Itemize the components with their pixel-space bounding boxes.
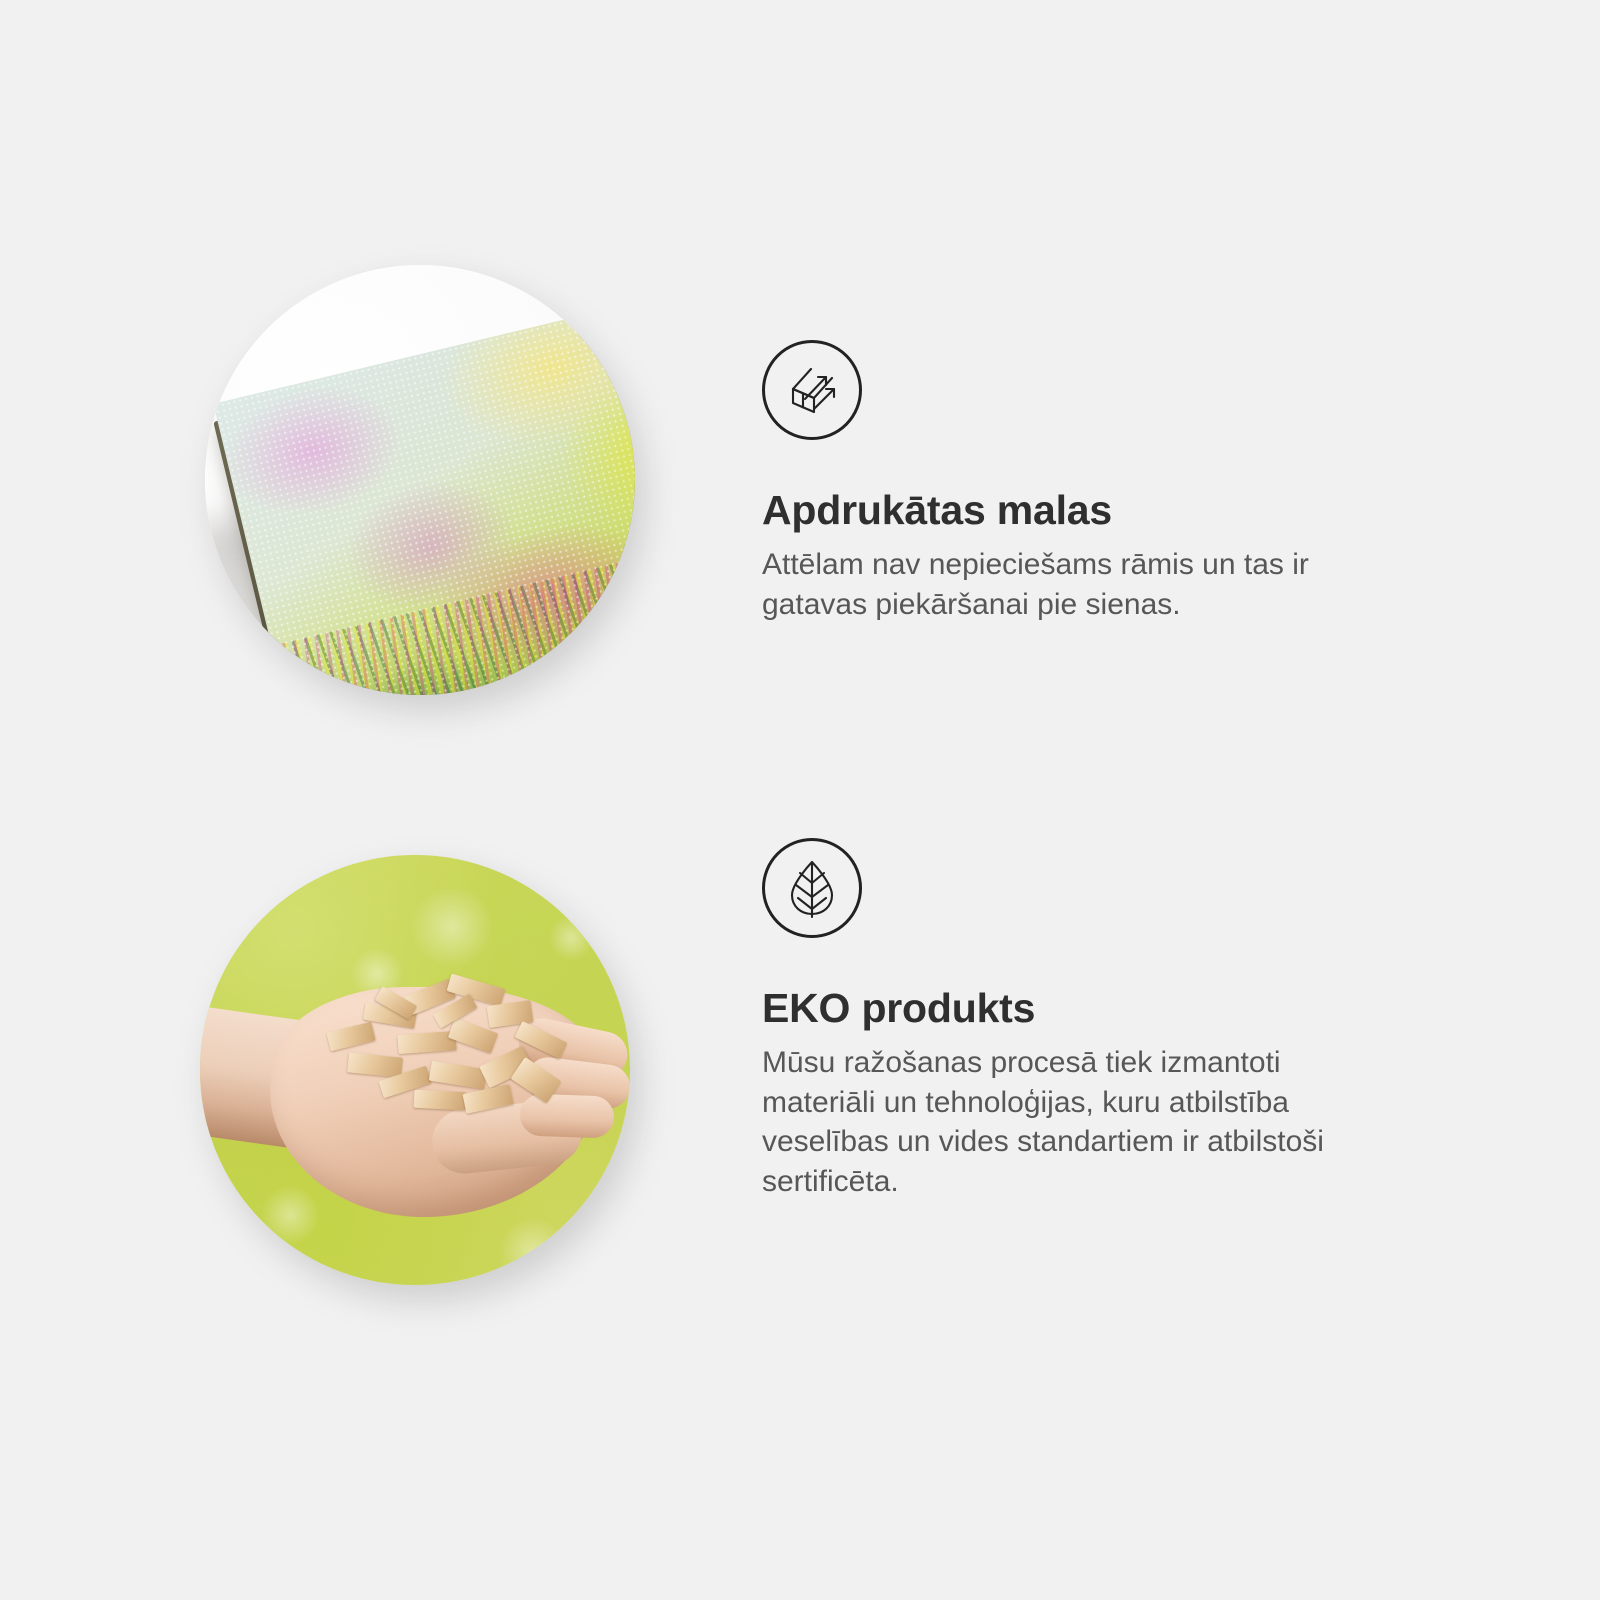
wood-chip	[462, 1084, 513, 1114]
eco-scene	[200, 855, 630, 1285]
feature-eco-product: EKO produkts Mūsu ražošanas procesā tiek…	[0, 830, 1600, 1350]
printed-edges-copy: Apdrukātas malas Attēlam nav nepieciešam…	[762, 340, 1502, 624]
feature-printed-edges: Apdrukātas malas Attēlam nav nepieciešam…	[0, 240, 1600, 760]
canvas-scene	[205, 265, 635, 695]
bokeh-highlight	[548, 915, 594, 961]
leaf-icon	[762, 838, 862, 938]
bokeh-highlight	[498, 1217, 568, 1285]
feature-description: Mūsu ražošanas procesā tiek izmantoti ma…	[762, 1043, 1492, 1201]
canvas-printed-face	[213, 294, 635, 695]
wood-chip-pile	[318, 973, 570, 1125]
feature-title: EKO produkts	[762, 986, 1502, 1031]
canvas-wrapped-edge-icon	[762, 340, 862, 440]
wood-chip	[429, 1061, 487, 1090]
bokeh-highlight	[410, 885, 494, 969]
wood-chips-in-hands-photo	[200, 855, 630, 1285]
feature-title: Apdrukātas malas	[762, 488, 1502, 533]
bokeh-highlight	[260, 1185, 320, 1245]
canvas-corner-photo	[205, 265, 635, 695]
wood-chip	[326, 1022, 375, 1052]
eco-product-copy: EKO produkts Mūsu ražošanas procesā tiek…	[762, 838, 1502, 1201]
wood-chip	[347, 1052, 403, 1078]
wood-chip	[414, 1090, 467, 1111]
canvas-sheen	[213, 294, 635, 695]
feature-description: Attēlam nav nepieciešams rāmis un tas ir…	[762, 545, 1482, 624]
feature-page: Apdrukātas malas Attēlam nav nepieciešam…	[0, 0, 1600, 1600]
